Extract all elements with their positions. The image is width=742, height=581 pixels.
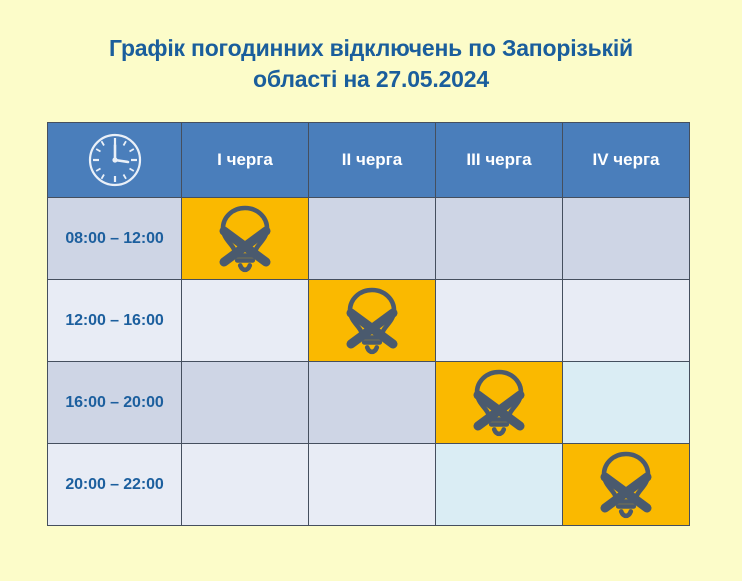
outage-schedule-page: Графік погодинних відключень по Запорізь…	[0, 0, 742, 581]
schedule-cell-r4-q3[interactable]	[436, 444, 563, 526]
page-title-line-1: Графік погодинних відключень по Запорізь…	[60, 33, 682, 64]
table-header: I черга II черга III черга IV черга	[48, 123, 690, 198]
page-title: Графік погодинних відключень по Запорізь…	[60, 33, 682, 95]
schedule-cell-r4-q2[interactable]	[309, 444, 436, 526]
bulb-off-icon	[182, 198, 308, 279]
schedule-cell-r4-q4[interactable]	[563, 444, 690, 526]
schedule-cell-r4-q1[interactable]	[182, 444, 309, 526]
bulb-off-icon	[309, 280, 435, 361]
schedule-cell-r1-q4[interactable]	[563, 198, 690, 280]
table-row: 20:00 – 22:00	[48, 444, 690, 526]
schedule-cell-r1-q3[interactable]	[436, 198, 563, 280]
schedule-cell-r2-q2[interactable]	[309, 280, 436, 362]
time-slot-label: 12:00 – 16:00	[48, 280, 182, 362]
outage-schedule-table: I черга II черга III черга IV черга 08:0…	[47, 122, 690, 526]
column-header-queue-2: II черга	[309, 123, 436, 198]
header-row: I черга II черга III черга IV черга	[48, 123, 690, 198]
table-row: 16:00 – 20:00	[48, 362, 690, 444]
column-header-queue-3: III черга	[436, 123, 563, 198]
clock-icon	[48, 123, 181, 197]
column-header-queue-4: IV черга	[563, 123, 690, 198]
table-row: 08:00 – 12:00	[48, 198, 690, 280]
time-slot-label: 20:00 – 22:00	[48, 444, 182, 526]
schedule-cell-r3-q3[interactable]	[436, 362, 563, 444]
schedule-cell-r3-q4[interactable]	[563, 362, 690, 444]
schedule-cell-r2-q1[interactable]	[182, 280, 309, 362]
column-header-queue-1: I черга	[182, 123, 309, 198]
time-column-header	[48, 123, 182, 198]
schedule-cell-r3-q1[interactable]	[182, 362, 309, 444]
table-row: 12:00 – 16:00	[48, 280, 690, 362]
time-slot-label: 16:00 – 20:00	[48, 362, 182, 444]
schedule-cell-r2-q3[interactable]	[436, 280, 563, 362]
bulb-off-icon	[436, 362, 562, 443]
table-body: 08:00 – 12:0012:00 – 16:0016:00 – 20:002…	[48, 198, 690, 526]
schedule-cell-r1-q2[interactable]	[309, 198, 436, 280]
schedule-cell-r3-q2[interactable]	[309, 362, 436, 444]
schedule-cell-r2-q4[interactable]	[563, 280, 690, 362]
schedule-cell-r1-q1[interactable]	[182, 198, 309, 280]
page-title-line-2: області на 27.05.2024	[60, 64, 682, 95]
bulb-off-icon	[563, 444, 689, 525]
time-slot-label: 08:00 – 12:00	[48, 198, 182, 280]
